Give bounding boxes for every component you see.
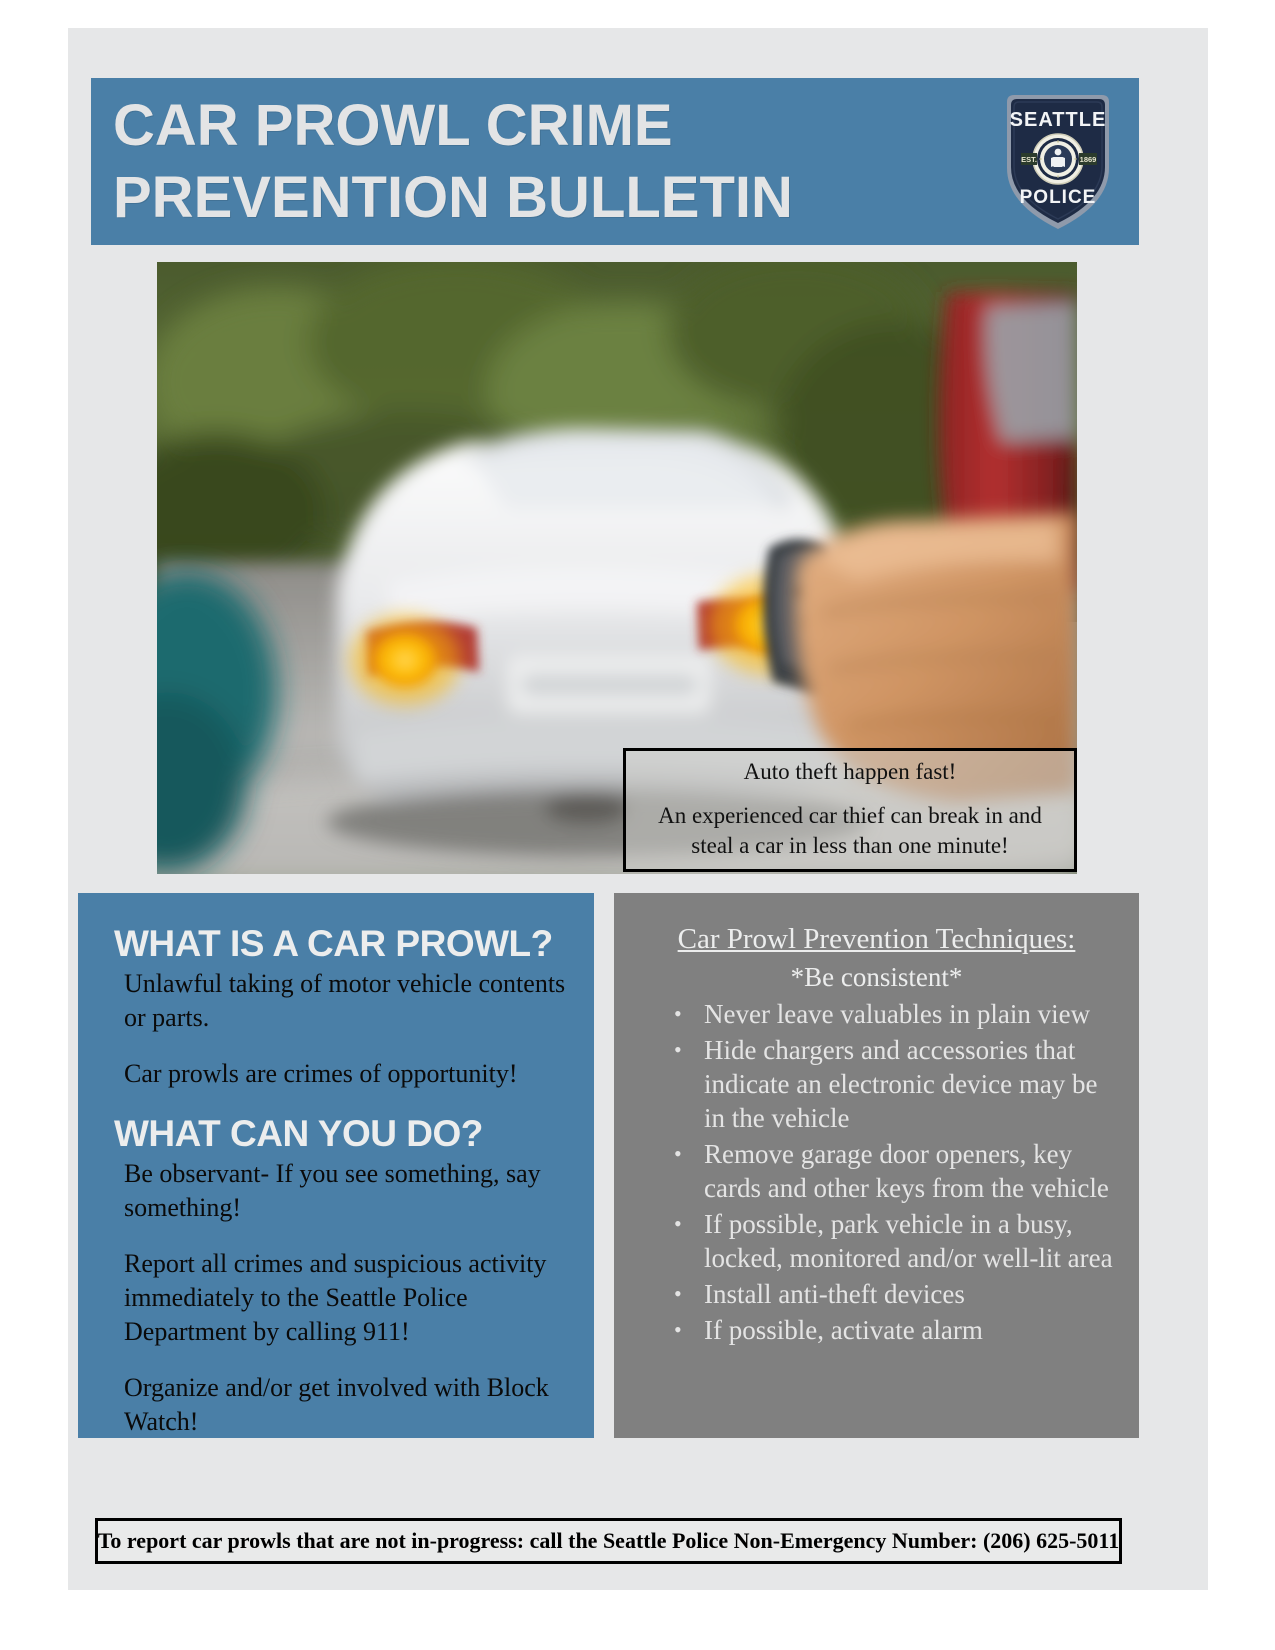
list-item: Hide chargers and accessories that indic… — [674, 1033, 1117, 1135]
footer-contact-text: To report car prowls that are not in-pro… — [98, 1528, 1119, 1554]
list-item: Remove garage door openers, key cards an… — [674, 1137, 1117, 1205]
left-paragraph-be-observant: Be observant- If you see something, say … — [124, 1157, 572, 1225]
left-paragraph-block-watch: Organize and/or get involved with Block … — [124, 1371, 572, 1439]
page-title: CAR PROWL CRIME PREVENTION BULLETIN — [113, 90, 933, 234]
list-item: If possible, activate alarm — [674, 1313, 1117, 1347]
left-panel: WHAT IS A CAR PROWL? Unlawful taking of … — [78, 893, 594, 1438]
list-item: Never leave valuables in plain view — [674, 997, 1117, 1031]
svg-text:POLICE: POLICE — [1020, 187, 1097, 208]
list-item: If possible, park vehicle in a busy, loc… — [674, 1207, 1117, 1275]
seattle-police-badge-icon: SEATTLE — [999, 90, 1117, 232]
svg-text:1869: 1869 — [1080, 155, 1097, 164]
left-paragraph-report-crimes: Report all crimes and suspicious activit… — [124, 1247, 572, 1349]
caption-line-2: An experienced car thief can break in an… — [640, 801, 1060, 861]
right-panel: Car Prowl Prevention Techniques: *Be con… — [614, 893, 1139, 1438]
list-item: Install anti-theft devices — [674, 1277, 1117, 1311]
flyer-page: CAR PROWL CRIME PREVENTION BULLETIN SEAT… — [0, 0, 1275, 1650]
left-paragraph-definition: Unlawful taking of motor vehicle content… — [124, 967, 572, 1035]
svg-text:SEATTLE: SEATTLE — [1010, 109, 1107, 131]
footer-bar: To report car prowls that are not in-pro… — [95, 1518, 1122, 1564]
photo-caption-box: Auto theft happen fast! An experienced c… — [623, 748, 1077, 872]
left-heading-what-is-a-car-prowl: WHAT IS A CAR PROWL? — [114, 923, 572, 965]
left-heading-what-can-you-do: WHAT CAN YOU DO? — [114, 1113, 572, 1155]
left-paragraph-opportunity: Car prowls are crimes of opportunity! — [124, 1057, 572, 1091]
right-panel-title: Car Prowl Prevention Techniques: — [632, 923, 1121, 956]
header-bar: CAR PROWL CRIME PREVENTION BULLETIN SEAT… — [91, 78, 1139, 245]
right-panel-subtitle: *Be consistent* — [632, 962, 1121, 993]
caption-line-1: Auto theft happen fast! — [744, 759, 957, 785]
prevention-techniques-list: Never leave valuables in plain view Hide… — [632, 997, 1121, 1347]
svg-text:EST.: EST. — [1021, 155, 1037, 164]
